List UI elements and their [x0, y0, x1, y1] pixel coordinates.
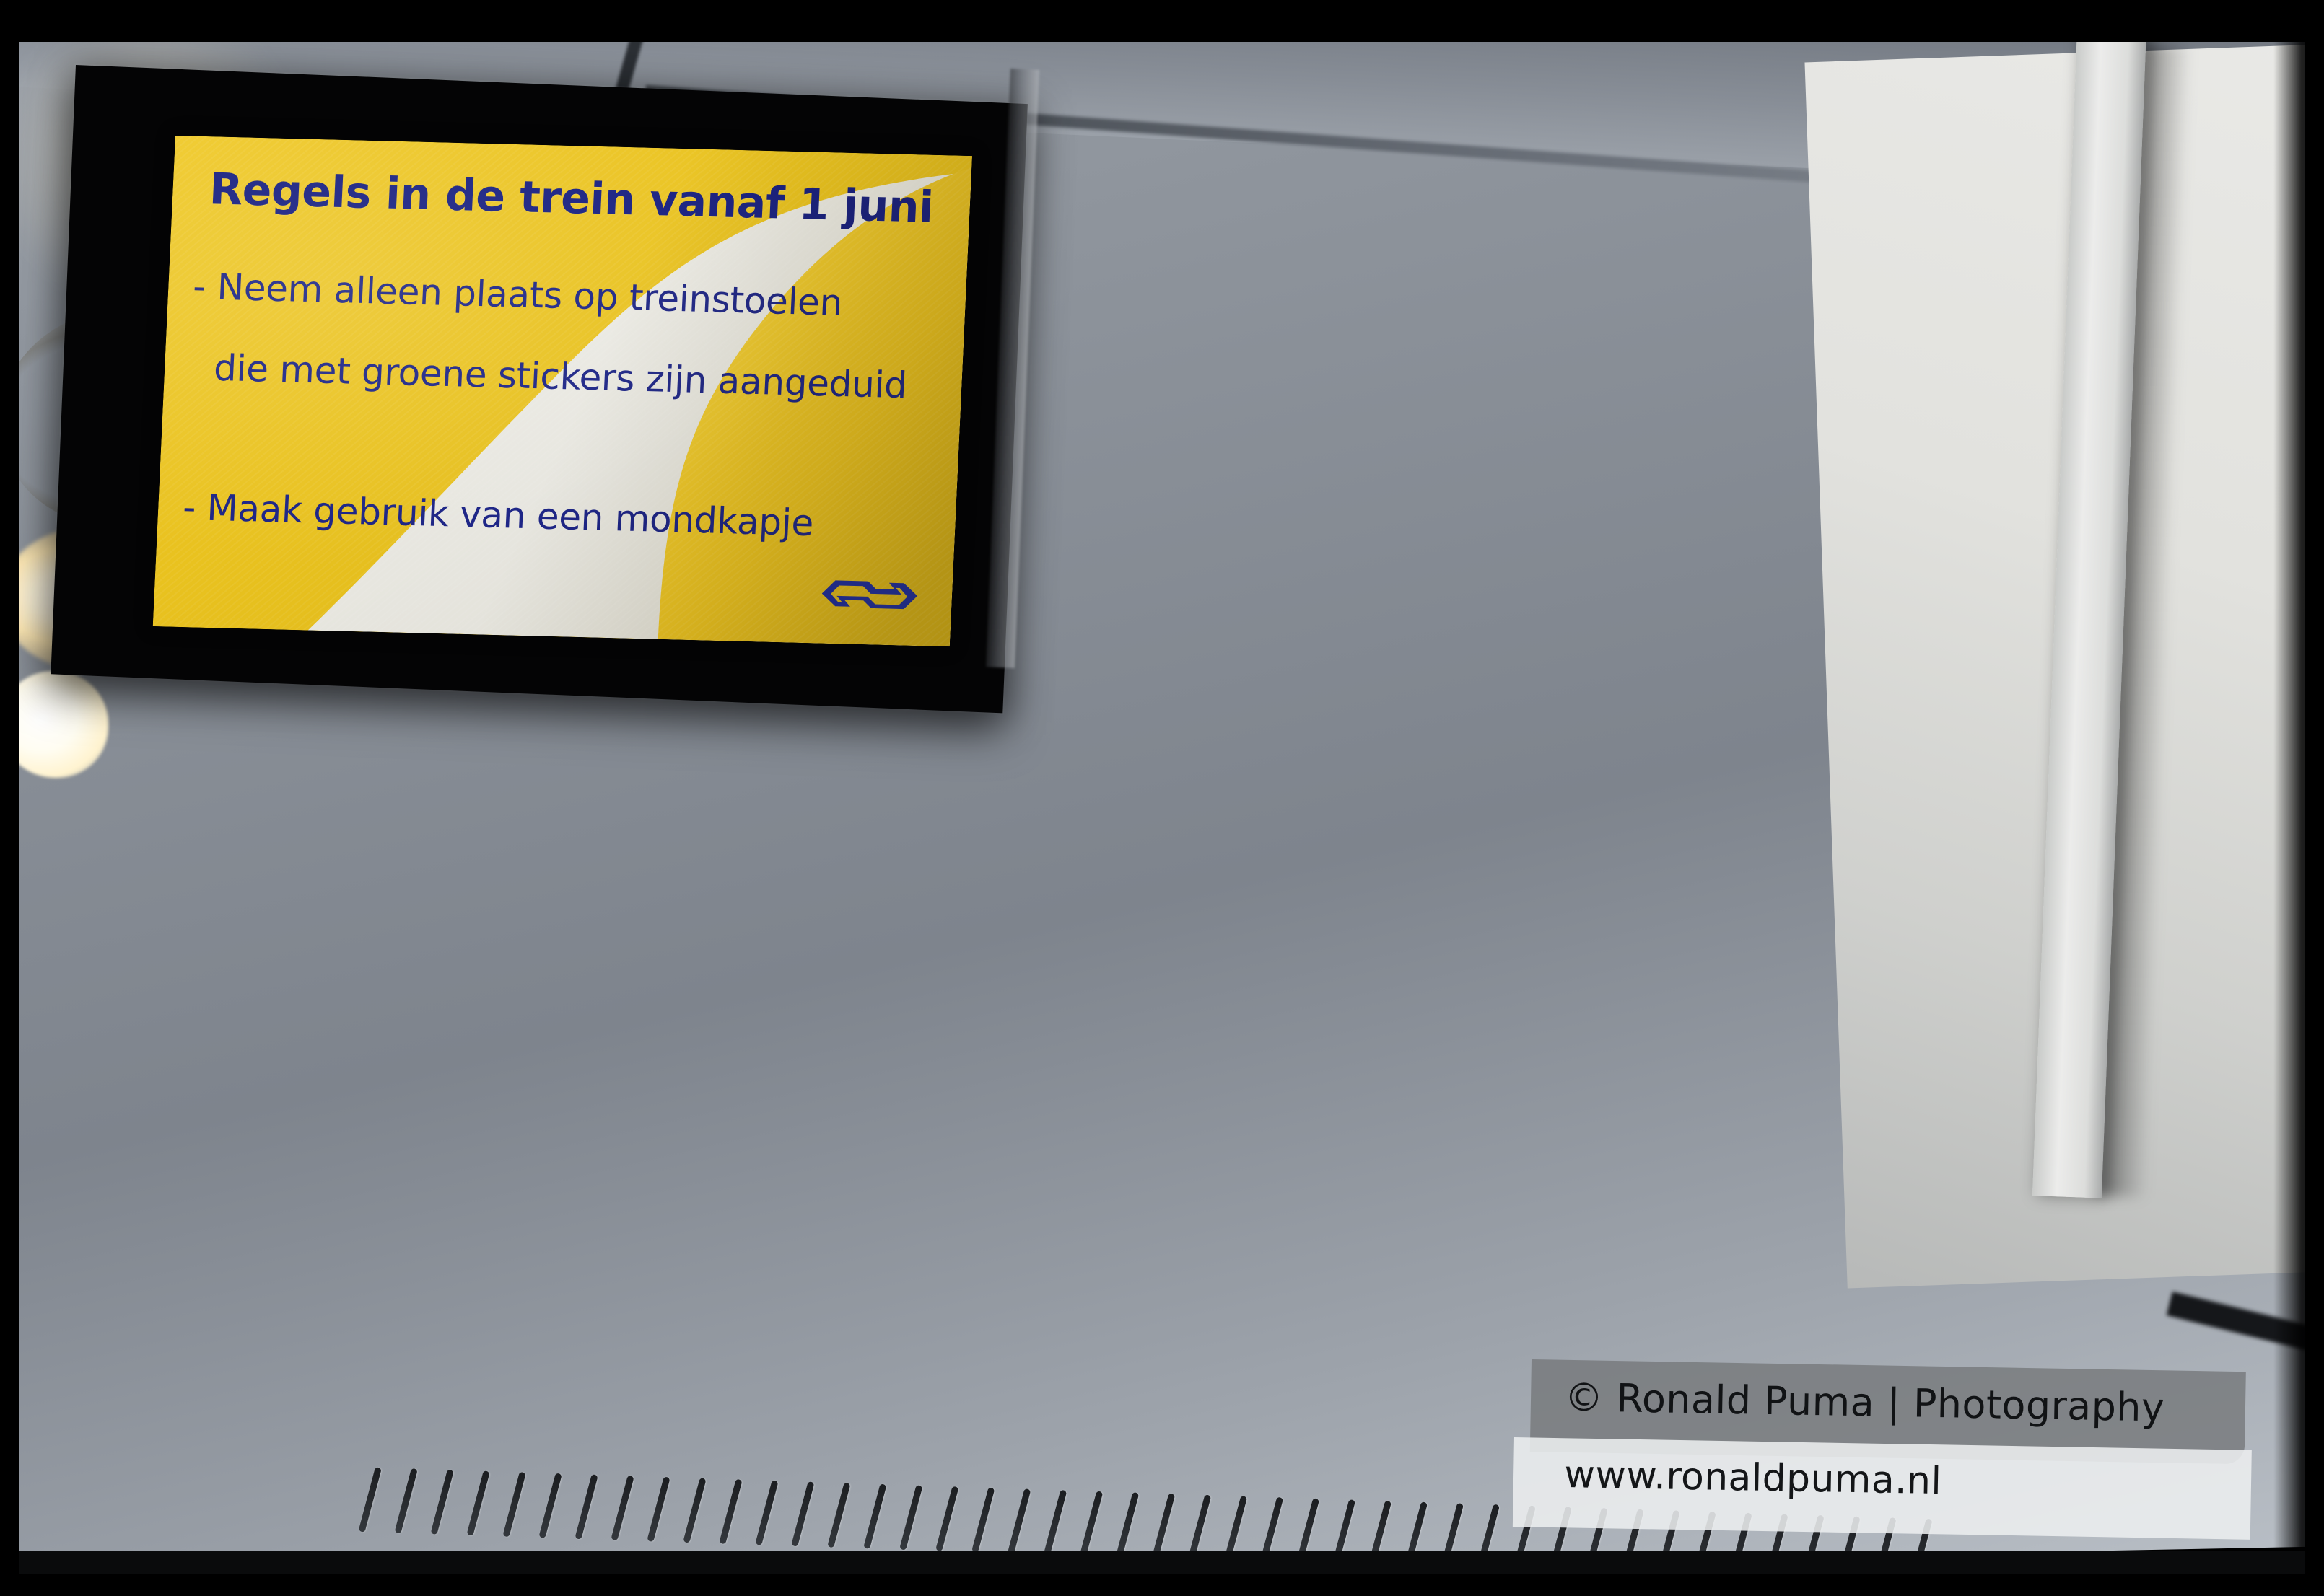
list-item: - Maak gebruik van een mondkapje — [180, 447, 942, 587]
presentation-slide: Regels in de trein vanaf 1 juni - Neem a… — [153, 136, 972, 646]
slide-content: Regels in de trein vanaf 1 juni - Neem a… — [153, 136, 972, 646]
bullet-line-primary: - Maak gebruik van een mondkapje — [182, 487, 940, 547]
ns-logo-icon — [818, 571, 921, 618]
photo-border-top — [0, 0, 2324, 22]
photo-border-left — [0, 0, 19, 1596]
photo-border-right — [2305, 0, 2324, 1596]
photo-border-bottom — [0, 1574, 2324, 1596]
slide-title: Regels in de trein vanaf 1 juni — [172, 163, 971, 234]
monitor-screen[interactable]: Regels in de trein vanaf 1 juni - Neem a… — [153, 136, 972, 646]
bullet-line-primary: - Neem alleen plaats op treinstoelen — [192, 266, 951, 326]
bullet-line-continued: die met groene stickers zijn aangeduid — [188, 347, 947, 407]
list-item: - Neem alleen plaats op treinstoelen die… — [186, 226, 952, 447]
photograph: Regels in de trein vanaf 1 juni - Neem a… — [0, 0, 2324, 1596]
